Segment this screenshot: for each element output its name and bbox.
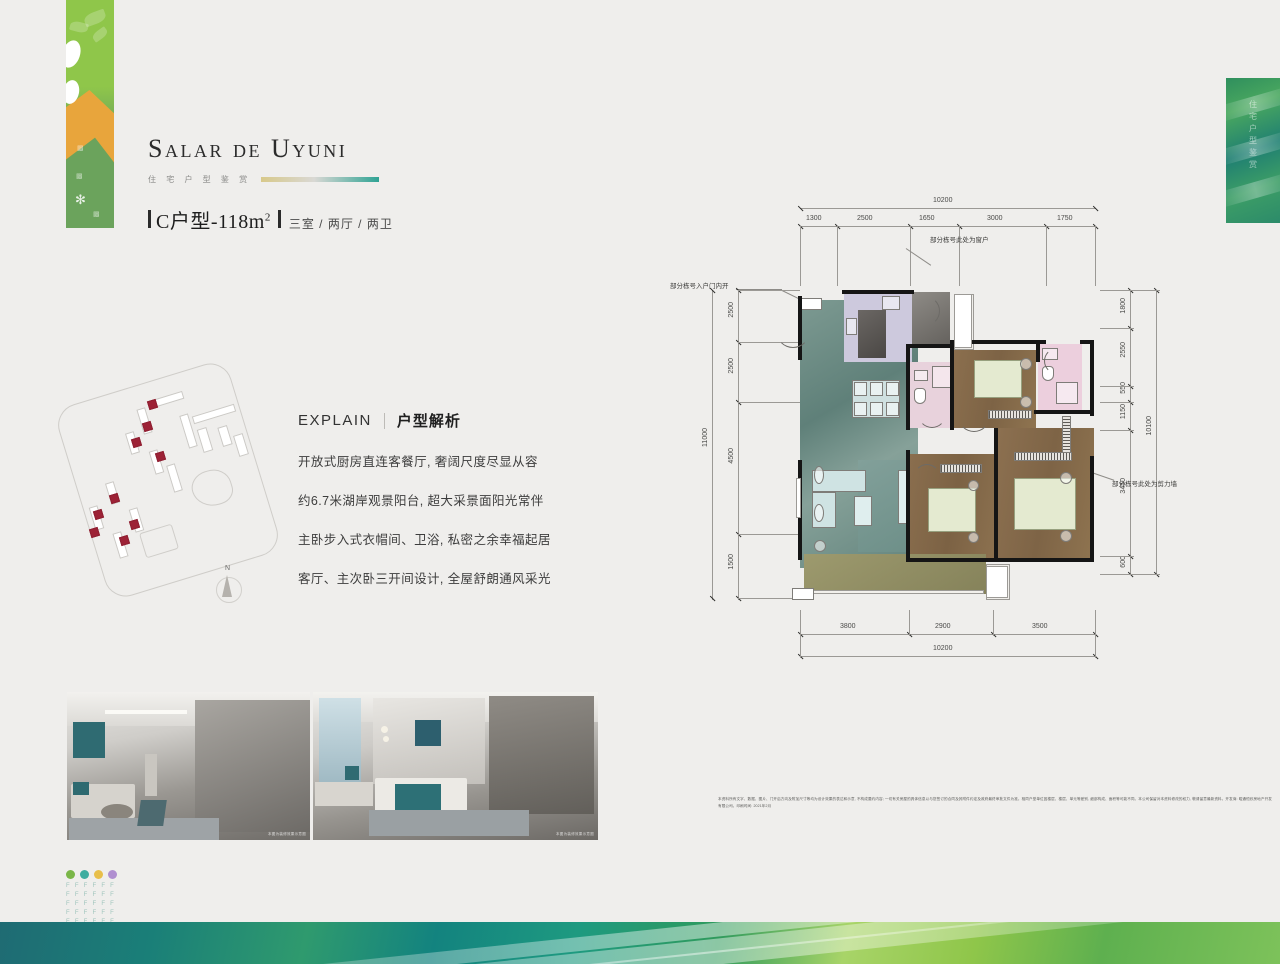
logo-dot-teal (80, 870, 89, 879)
small-mark-icon: ▩ (93, 210, 100, 218)
snowflake-icon: ✻ (75, 192, 86, 208)
left-decor-strip: ▩ ▩ ✻ ▩ (66, 0, 114, 228)
photo-mirror (145, 754, 157, 796)
nightstand-icon (968, 480, 979, 491)
photo-pendant-light (383, 736, 389, 742)
interior-wall (906, 344, 910, 430)
brand-logo: FFFFFF FFFFFF FFFFFF FFFFFF FFFFFF (66, 870, 117, 926)
floor-plan: 10200 1300 2500 1650 3000 1750 部分栋号此处为窗户… (660, 190, 1220, 680)
unit-type-row: C户型-118m2 三室 / 两厅 / 两卫 (148, 205, 393, 234)
small-mark-icon: ▩ (77, 144, 84, 152)
legal-disclaimer: 本资料所有文字、数据、图片、门开启方向及附加尺寸等均为设计效果的表达和示意, 不… (718, 796, 1274, 810)
explain-cn-label: 户型解析 (397, 410, 461, 431)
photo-wardrobe (489, 696, 594, 814)
kitchen-counter-stone (858, 310, 886, 358)
photo-watermark: 本图为装修效果示意图 (268, 832, 306, 837)
exterior-wall (1090, 456, 1094, 562)
unit-type-label: C户型-118m2 (156, 205, 271, 234)
dim-ext (1100, 574, 1160, 575)
explain-section: EXPLAIN 户型解析 开放式厨房直连客餐厅, 奢阔尺度尽显从容 约6.7米湖… (298, 410, 598, 587)
living-room-photo: 本图为装修效果示意图 (67, 692, 310, 840)
compass-icon: N (214, 567, 244, 605)
compass-north-label: N (225, 565, 230, 572)
photo-artwork (73, 722, 105, 758)
door-swing-icon (918, 400, 946, 428)
dining-chair-icon (870, 382, 883, 396)
right-panel-vertical-text: 住宅户型鉴赏 (1248, 100, 1259, 172)
dim-ext (1100, 556, 1134, 557)
nightstand-icon (1020, 358, 1032, 370)
door-swing-icon (914, 464, 940, 490)
dim-top-3000: 3000 (987, 215, 1003, 222)
logo-grid-pattern: FFFFFF FFFFFF FFFFFF FFFFFF FFFFFF (66, 883, 117, 926)
dim-ext (738, 534, 800, 535)
dim-ext (837, 226, 838, 286)
site-plan: N (64, 372, 294, 607)
bedroom-photo: 本图为装修效果示意图 (313, 692, 598, 840)
room-count-label: 三室 / 两厅 / 两卫 (289, 215, 393, 232)
explain-divider (384, 413, 385, 429)
dim-ext (1100, 290, 1160, 291)
plan-body (798, 288, 1100, 608)
interior-wall (950, 344, 954, 430)
interior-wall (906, 450, 910, 562)
window-icon (954, 294, 972, 348)
nightstand-icon (1020, 396, 1032, 408)
footer-wave-band (0, 922, 1280, 964)
bar-mark-icon (148, 210, 151, 228)
dim-left-seg-line (738, 290, 739, 600)
photo-stone-wall (195, 700, 310, 832)
interior-wall (906, 344, 954, 348)
dim-ext (738, 598, 800, 599)
explain-line: 主卧步入式衣帽间、卫浴, 私密之余幸福起居 (298, 529, 598, 548)
dim-ext (1100, 402, 1134, 403)
callout-left-door: 部分栋号入户门内开 (670, 280, 729, 290)
door-swing-icon (958, 400, 990, 432)
photo-ceiling-light (105, 710, 187, 714)
dining-chair-icon (886, 382, 899, 396)
interior-wall (910, 558, 1094, 562)
photo-watermark: 本图为装修效果示意图 (556, 832, 594, 837)
plant-icon (814, 540, 826, 552)
window-icon (986, 566, 1008, 598)
dim-bottom-3500: 3500 (1032, 623, 1048, 630)
dim-ext (1046, 226, 1047, 286)
photo-window-seat (315, 782, 373, 806)
dim-right-600: 600 (1120, 556, 1127, 568)
dim-top-total-line (800, 208, 1096, 209)
dim-right-2550: 2550 (1120, 342, 1127, 358)
dim-right-total: 10100 (1146, 416, 1153, 435)
dining-chair-icon (870, 402, 883, 416)
explain-en-label: EXPLAIN (298, 412, 372, 429)
photo-artwork (415, 720, 441, 746)
explain-line: 约6.7米湖岸观景阳台, 超大采景面阳光常伴 (298, 490, 598, 509)
nightstand-icon (1060, 530, 1072, 542)
dim-left-1500: 1500 (728, 554, 735, 570)
dim-left-2500a: 2500 (728, 302, 735, 318)
dim-ext (1095, 610, 1096, 658)
window-icon (796, 478, 801, 518)
white-swoosh-icon (66, 38, 84, 70)
unit-type-sup: 2 (265, 211, 271, 223)
bed-icon (1014, 478, 1076, 530)
photo-bed-throw (395, 784, 441, 812)
logo-dot-purple (108, 870, 117, 879)
door-swing-icon (910, 296, 940, 326)
dim-left-4500: 4500 (728, 448, 735, 464)
stove-icon (846, 318, 857, 335)
coffee-table-icon (854, 496, 872, 526)
armchair-icon (814, 504, 824, 522)
callout-top-window: 部分栋号此处为窗户 (930, 234, 989, 244)
gradient-divider (261, 177, 379, 182)
dim-left-total: 11000 (702, 428, 709, 447)
ac-unit-icon (792, 588, 814, 600)
dim-bottom-total-line (800, 656, 1096, 657)
dim-left-total-line (712, 290, 713, 600)
subtitle-row: 住 宅 户 型 鉴 赏 (148, 174, 393, 185)
exterior-wall (842, 290, 914, 294)
photo-pendant-light (381, 726, 388, 733)
interior-photo-gallery: 本图为装修效果示意图 本图为装修效果示意图 (67, 692, 598, 840)
dim-top-1750: 1750 (1057, 215, 1073, 222)
small-mark-icon: ▩ (76, 172, 83, 180)
dim-top-seg-line (800, 226, 1096, 227)
dim-bottom-2900: 2900 (935, 623, 951, 630)
logo-dot-yellow (94, 870, 103, 879)
dim-top-1650: 1650 (919, 215, 935, 222)
exterior-wall (1090, 340, 1094, 416)
entry-door-swing-icon (776, 314, 810, 348)
dim-bottom-seg-line (800, 634, 1096, 635)
logo-dots (66, 870, 117, 879)
photo-rug (369, 810, 529, 836)
explain-heading: EXPLAIN 户型解析 (298, 410, 598, 431)
photo-sofa-cushion (73, 782, 89, 795)
dim-ext (738, 290, 800, 291)
balcony-rail (806, 590, 984, 594)
ac-unit-icon (800, 298, 822, 310)
dim-bottom-total: 10200 (933, 645, 952, 652)
dim-ext (1100, 386, 1134, 387)
panel-light-band (1226, 171, 1280, 209)
unit-type-text: C户型-118m (156, 211, 265, 233)
interior-wall (1034, 410, 1094, 414)
nightstand-icon (1060, 472, 1072, 484)
washbasin-icon (914, 370, 928, 381)
wardrobe-icon (940, 464, 982, 473)
shower-icon (932, 366, 952, 388)
dim-ext (800, 610, 801, 658)
photo-accent-chair (137, 800, 167, 826)
right-decor-panel: 住宅户型鉴赏 (1226, 78, 1280, 223)
dining-chair-icon (886, 402, 899, 416)
dim-right-1150: 1150 (1120, 404, 1127, 419)
armchair-icon (814, 466, 824, 484)
explain-line: 客厅、主次卧三开间设计, 全屋舒朗通风采光 (298, 568, 598, 587)
dim-ext (910, 226, 911, 286)
dim-right-550: 550 (1120, 382, 1127, 394)
sink-icon (882, 296, 900, 310)
interior-wall (994, 428, 998, 562)
page-subtitle: 住 宅 户 型 鉴 赏 (148, 174, 251, 185)
header-block: Salar de Uyuni 住 宅 户 型 鉴 赏 C户型-118m2 三室 … (148, 134, 393, 234)
logo-dot-green (66, 870, 75, 879)
dining-chair-icon (854, 402, 867, 416)
dim-ext (1100, 328, 1134, 329)
door-swing-icon (1044, 348, 1070, 374)
wardrobe-icon (1014, 452, 1072, 461)
explain-line: 开放式厨房直连客餐厅, 奢阔尺度尽显从容 (298, 451, 598, 470)
page-title: Salar de Uyuni (148, 134, 393, 164)
dim-ext (800, 226, 801, 286)
leaf-icon (91, 26, 109, 43)
callout-right-shearwall: 部分栋号此处为剪力墙 (1112, 478, 1177, 488)
dim-top-1300: 1300 (806, 215, 822, 222)
bathtub-icon (1056, 382, 1078, 404)
dim-top-2500: 2500 (857, 215, 873, 222)
compass-needle (222, 575, 232, 597)
dim-ext (909, 610, 910, 636)
dim-left-2500b: 2500 (728, 358, 735, 374)
exterior-wall (1036, 340, 1040, 362)
bar-mark-icon (278, 210, 281, 228)
photo-throw-pillow (345, 766, 359, 780)
bed-icon (928, 488, 976, 532)
bed-icon (974, 360, 1022, 398)
dim-ext (1100, 430, 1134, 431)
dim-bottom-3800: 3800 (840, 623, 856, 630)
dim-ext (993, 610, 994, 636)
wardrobe-icon (988, 410, 1032, 419)
dim-ext (1095, 226, 1096, 286)
dim-right-1800: 1800 (1120, 298, 1127, 314)
nightstand-icon (968, 532, 979, 543)
dim-right-total-line (1156, 290, 1157, 575)
dining-chair-icon (854, 382, 867, 396)
dim-top-total: 10200 (933, 197, 952, 204)
dim-ext (738, 402, 800, 403)
